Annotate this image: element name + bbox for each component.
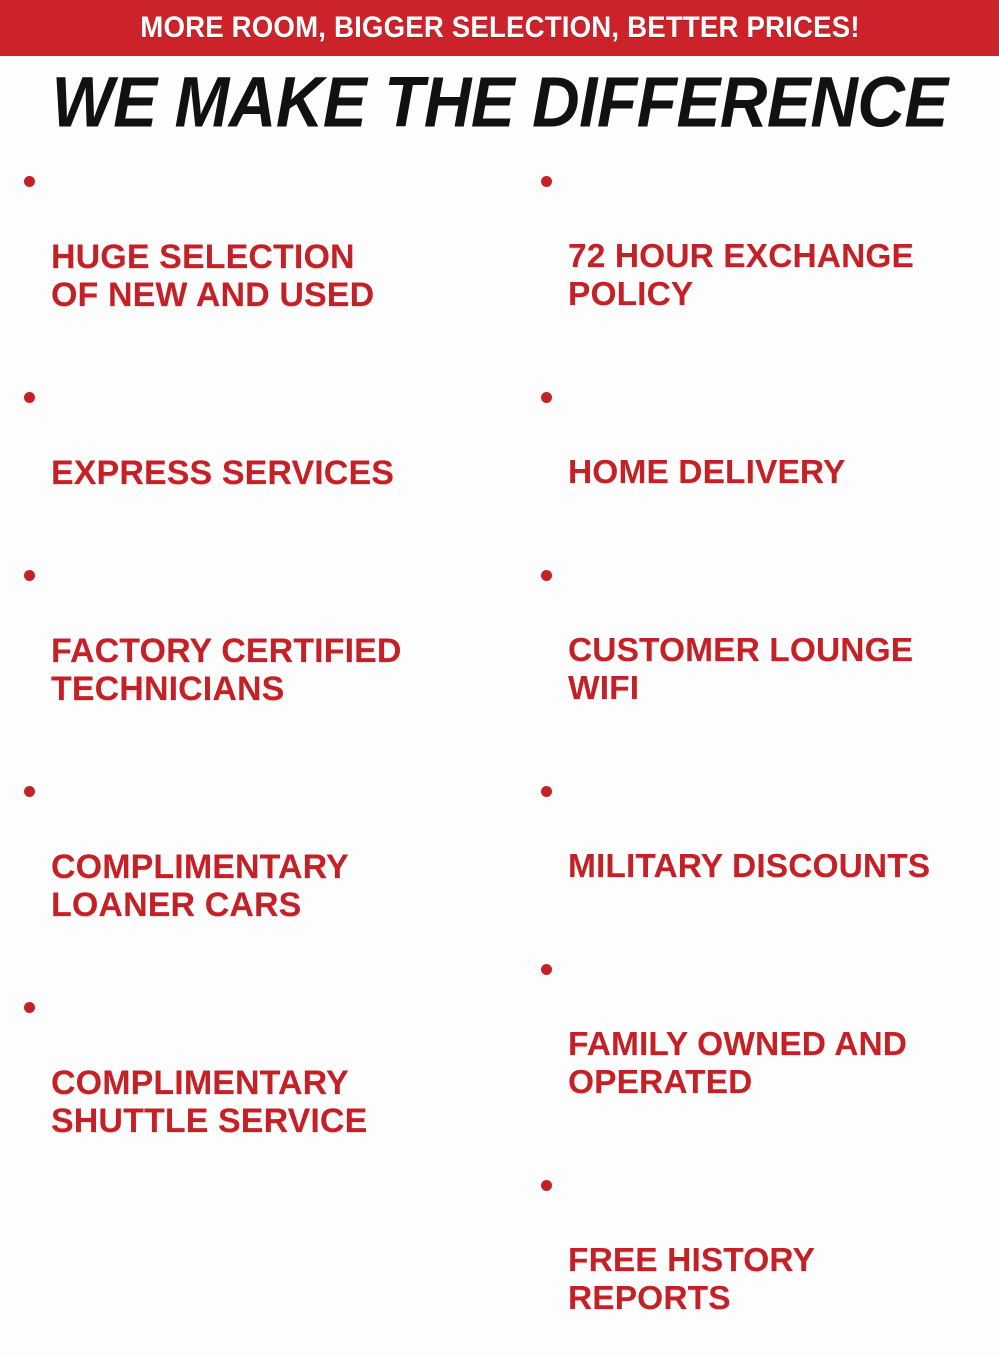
benefit-label: HOME DELIVERY — [568, 454, 999, 492]
round-bullet-icon — [541, 392, 552, 403]
benefit-label: HUGE SELECTION OF NEW AND USED — [51, 238, 515, 314]
benefits-column-right: 72 HOUR EXCHANGE POLICY HOME DELIVERY CU… — [515, 152, 999, 1356]
list-item: MILITARY DISCOUNTS — [535, 772, 999, 924]
list-item: 72 HOUR EXCHANGE POLICY — [535, 162, 999, 352]
list-item: FACTORY CERTIFIED TECHNICIANS — [18, 556, 515, 746]
benefits-columns: HUGE SELECTION OF NEW AND USED EXPRESS S… — [0, 152, 999, 692]
round-bullet-icon — [24, 176, 35, 187]
list-item: FAMILY OWNED AND OPERATED — [535, 950, 999, 1140]
round-bullet-icon — [24, 786, 35, 797]
benefit-label: FAMILY OWNED AND OPERATED — [568, 1026, 999, 1102]
round-bullet-icon — [541, 1180, 552, 1191]
round-bullet-icon — [24, 392, 35, 403]
round-bullet-icon — [541, 786, 552, 797]
list-item: EXPRESS SERVICES — [18, 378, 515, 530]
headline-container: WE MAKE THE DIFFERENCE — [0, 64, 999, 140]
promo-banner-text: MORE ROOM, BIGGER SELECTION, BETTER PRIC… — [140, 13, 859, 43]
benefits-column-left: HUGE SELECTION OF NEW AND USED EXPRESS S… — [0, 152, 515, 1178]
list-item: FREE HISTORY REPORTS — [535, 1166, 999, 1356]
list-item: COMPLIMENTARY SHUTTLE SERVICE — [18, 988, 515, 1178]
benefit-label: MILITARY DISCOUNTS — [568, 848, 999, 886]
benefit-label: CUSTOMER LOUNGE WIFI — [568, 632, 999, 708]
list-item: COMPLIMENTARY LOANER CARS — [18, 772, 515, 962]
round-bullet-icon — [24, 570, 35, 581]
round-bullet-icon — [541, 176, 552, 187]
benefit-label: FACTORY CERTIFIED TECHNICIANS — [51, 632, 515, 708]
list-item: CUSTOMER LOUNGE WIFI — [535, 556, 999, 746]
list-item: HUGE SELECTION OF NEW AND USED — [18, 162, 515, 352]
promo-banner: MORE ROOM, BIGGER SELECTION, BETTER PRIC… — [0, 0, 999, 56]
benefit-label: 72 HOUR EXCHANGE POLICY — [568, 238, 999, 314]
benefit-label: COMPLIMENTARY LOANER CARS — [51, 848, 515, 924]
page-title: WE MAKE THE DIFFERENCE — [51, 65, 947, 138]
benefit-label: EXPRESS SERVICES — [51, 454, 515, 492]
benefit-label: FREE HISTORY REPORTS — [568, 1242, 999, 1318]
benefit-label: COMPLIMENTARY SHUTTLE SERVICE — [51, 1064, 515, 1140]
round-bullet-icon — [541, 570, 552, 581]
round-bullet-icon — [541, 964, 552, 975]
round-bullet-icon — [24, 1002, 35, 1013]
benefit-list-left: HUGE SELECTION OF NEW AND USED EXPRESS S… — [18, 162, 515, 1178]
benefit-list-right: 72 HOUR EXCHANGE POLICY HOME DELIVERY CU… — [535, 162, 999, 1356]
list-item: HOME DELIVERY — [535, 378, 999, 530]
promo-poster: MORE ROOM, BIGGER SELECTION, BETTER PRIC… — [0, 0, 999, 692]
